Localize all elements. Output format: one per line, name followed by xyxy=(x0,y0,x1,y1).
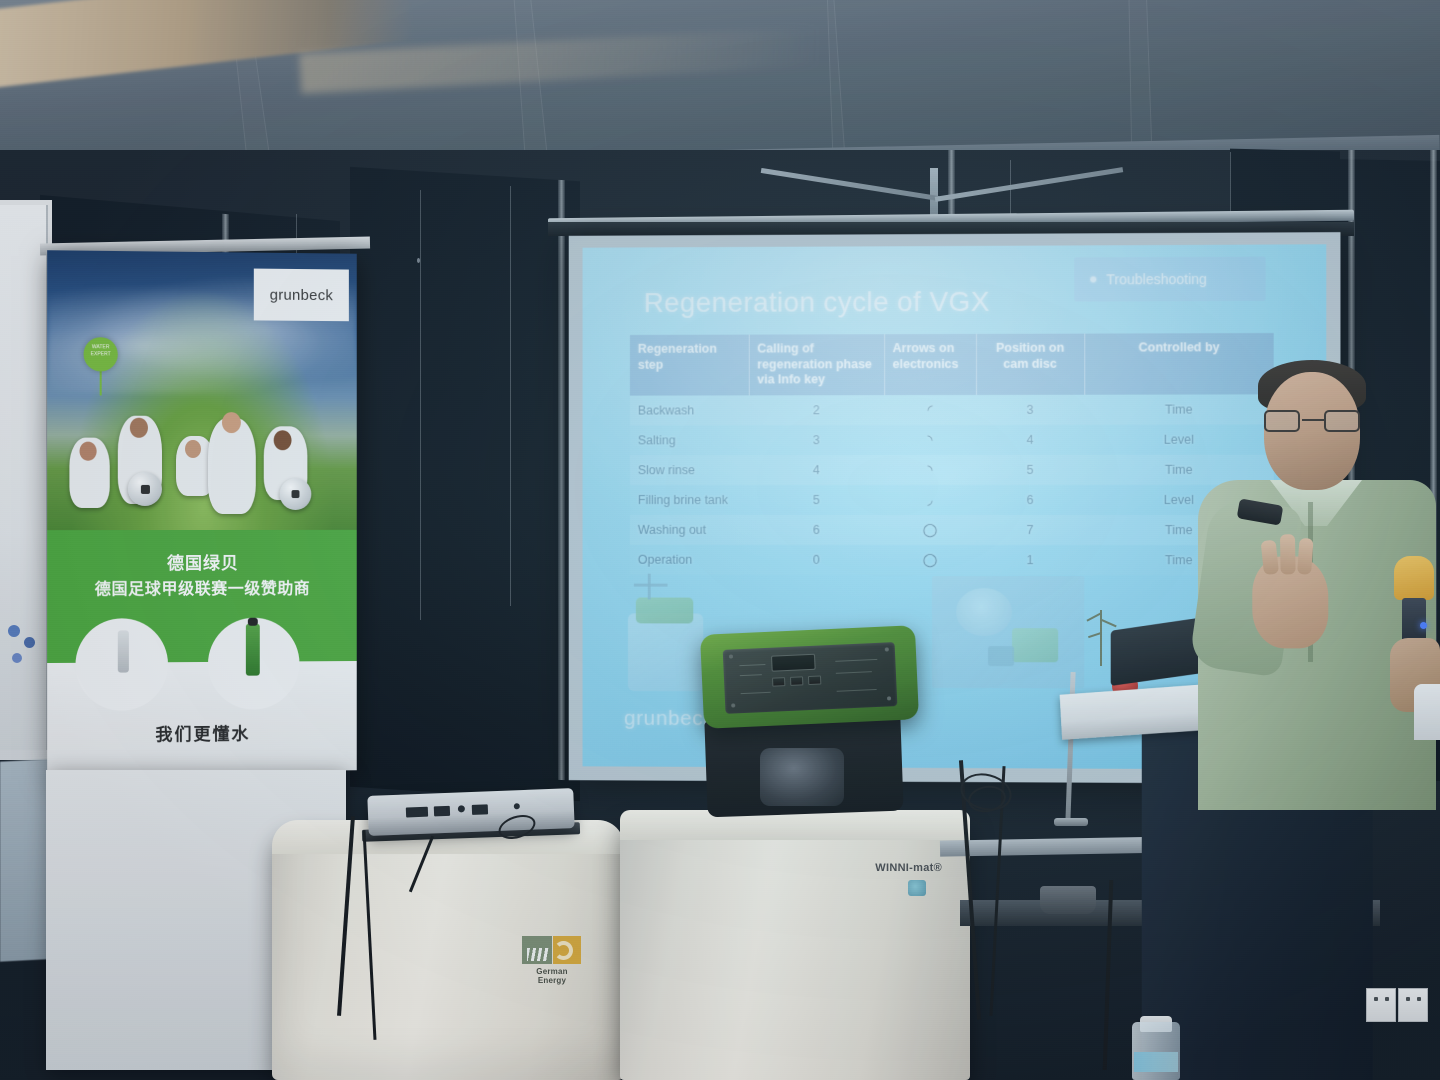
table-row: Filling brine tank 5 ◞ 6 Level xyxy=(630,485,1274,515)
control-button-1[interactable] xyxy=(772,677,785,687)
tank-logo-caption: German Energy xyxy=(522,967,582,985)
water-softener-cabinet: WINNI-mat® xyxy=(620,820,970,1080)
cell-step: Filling brine tank xyxy=(630,485,749,515)
banner-product-green-cap xyxy=(248,618,258,626)
panel-printed-text xyxy=(837,689,877,692)
col-header-step: Regeneration step xyxy=(630,335,749,396)
table-body: Backwash 2 ◜ 3 Time Salting 3 ◝ 4 Level xyxy=(630,394,1274,575)
softener-valve-assembly xyxy=(760,748,844,806)
winni-mat-logo-icon xyxy=(908,880,926,896)
blind-cord-3 xyxy=(510,186,511,606)
mic-windscreen xyxy=(1394,556,1434,600)
cell-info-key: 6 xyxy=(749,515,884,545)
cell-cam-disc: 6 xyxy=(976,485,1084,515)
window-blinds-center xyxy=(350,167,580,801)
banner-soccer-ball xyxy=(280,478,312,510)
podium-mic-base xyxy=(1054,818,1088,826)
projector-port xyxy=(458,805,465,812)
blind-bead xyxy=(417,258,420,263)
table-row: Salting 3 ◝ 4 Level xyxy=(630,424,1274,455)
projector-port xyxy=(472,804,488,815)
cell-step: Slow rinse xyxy=(630,455,749,485)
banner-player-head xyxy=(130,418,148,438)
screen-mount-post xyxy=(930,168,938,218)
cell-arrow: ◝ xyxy=(884,455,976,485)
cell-step: Salting xyxy=(630,425,749,455)
presenter-finger xyxy=(1297,538,1313,575)
projector-port xyxy=(406,807,428,818)
col-header-cam-disc: Position on cam disc xyxy=(976,334,1084,395)
panel-screw xyxy=(885,647,889,651)
control-button-2[interactable] xyxy=(790,676,803,686)
panel-printed-text xyxy=(740,674,762,676)
banner-white-block xyxy=(47,661,357,774)
presenter-finger xyxy=(1280,534,1296,574)
presenter-hand xyxy=(1252,556,1328,648)
banner-headline: 德国绿贝 德国足球甲级联赛一级赞助商 xyxy=(47,552,357,601)
cell-arrow: ◯ xyxy=(884,545,976,575)
glasses-lens-right xyxy=(1324,410,1360,432)
panel-screw xyxy=(887,696,891,700)
table-row: Washing out 6 ◯ 7 Time xyxy=(630,515,1274,545)
white-sleeve xyxy=(1414,684,1440,740)
cell-info-key: 3 xyxy=(749,425,884,455)
window-mullion-2 xyxy=(558,180,565,780)
banner-soccer-ball xyxy=(128,472,162,506)
logo-sun-arc xyxy=(554,941,573,960)
control-button-3[interactable] xyxy=(808,675,821,685)
logo-bars-icon xyxy=(527,948,549,961)
projector-port xyxy=(434,806,450,817)
panel-printed-text xyxy=(741,692,771,694)
cell-arrow: ◯ xyxy=(884,515,976,545)
cell-info-key: 5 xyxy=(749,485,884,515)
presentation-room-photo: Regeneration cycle of VGX Troubleshootin… xyxy=(0,0,1440,1080)
banner-product-green xyxy=(246,624,260,676)
softener-lid xyxy=(620,810,970,840)
regeneration-cycle-table: Regeneration step Calling of regeneratio… xyxy=(630,333,1274,575)
banner-player-head xyxy=(222,412,241,433)
col-header-arrows: Arrows on electronics xyxy=(884,334,976,395)
banner-headline-line1: 德国绿贝 xyxy=(47,552,357,577)
cell-cam-disc: 4 xyxy=(976,425,1084,455)
banner-brand-logo-box: grunbeck xyxy=(254,269,349,322)
german-energy-logo-tank: German Energy xyxy=(522,936,606,994)
planter-pot xyxy=(1040,886,1096,914)
projector-port xyxy=(514,803,520,809)
table-row: Backwash 2 ◜ 3 Time xyxy=(630,394,1274,425)
cell-cam-disc: 7 xyxy=(976,515,1084,545)
banner-slogan: 我们更懂水 xyxy=(47,719,357,747)
cell-cam-disc: 5 xyxy=(976,455,1084,485)
panel-screw xyxy=(729,654,733,658)
table-header-row: Regeneration step Calling of regeneratio… xyxy=(630,333,1274,395)
cell-info-key: 4 xyxy=(749,455,884,485)
cell-arrow: ◜ xyxy=(884,395,976,425)
brine-tank: German Energy xyxy=(272,828,624,1080)
projector xyxy=(367,788,574,836)
mic-status-led xyxy=(1420,622,1427,629)
cell-cam-disc: 3 xyxy=(976,395,1084,425)
glasses-bridge xyxy=(1302,419,1324,421)
cell-info-key: 0 xyxy=(749,545,884,575)
panel-printed-text xyxy=(835,659,877,662)
cell-arrow: ◝ xyxy=(884,425,976,455)
bullet-icon xyxy=(1090,276,1096,282)
handheld-microphone xyxy=(1386,556,1438,736)
slide-section-tab: Troubleshooting xyxy=(1074,257,1265,302)
panel-printed-text xyxy=(739,664,765,666)
presenter-finger xyxy=(1261,540,1279,575)
wall-socket[interactable] xyxy=(1398,988,1428,1022)
banner-player-head xyxy=(274,430,292,450)
banner-brand-logo: grunbeck xyxy=(270,286,333,304)
cell-info-key: 2 xyxy=(749,395,884,425)
banner-photo: grunbeck WATER EXPERT xyxy=(47,250,357,530)
cell-step: Washing out xyxy=(630,515,749,545)
slide-section-label: Troubleshooting xyxy=(1106,271,1207,287)
slide-title: Regeneration cycle of VGX xyxy=(644,286,990,319)
softener-control-head xyxy=(700,625,919,729)
banner-badge-stick xyxy=(100,369,102,395)
control-panel xyxy=(723,642,898,714)
winni-mat-label: WINNI-mat® xyxy=(875,862,942,874)
col-header-info-key: Calling of regeneration phase via Info k… xyxy=(749,334,884,395)
banner-player-head xyxy=(80,442,97,461)
cell-cam-disc: 1 xyxy=(976,545,1084,575)
banner-player-head xyxy=(185,440,201,458)
cell-step: Backwash xyxy=(630,395,749,425)
cell-arrow: ◞ xyxy=(884,485,976,515)
banner-water-expert-badge: WATER EXPERT xyxy=(84,337,118,371)
table-row: Slow rinse 4 ◝ 5 Time xyxy=(630,455,1274,485)
blind-cord-2 xyxy=(420,190,421,620)
panel-printed-text xyxy=(836,671,872,674)
glasses-lens-left xyxy=(1264,410,1300,432)
banner-headline-line2: 德国足球甲级联赛一级赞助商 xyxy=(47,576,357,600)
lcd-display[interactable] xyxy=(771,654,816,672)
slide-photo-cam-disc xyxy=(932,576,1084,688)
rollup-banner: grunbeck WATER EXPERT 德国绿贝 德国足球甲级联赛一级赞助商 xyxy=(47,250,357,774)
slide-brand-logo: grunbeck xyxy=(624,707,714,731)
presenter-glasses xyxy=(1264,410,1362,432)
banner-product-grey xyxy=(118,630,129,672)
whiteboard xyxy=(0,205,48,750)
wall-socket[interactable] xyxy=(1366,988,1396,1022)
panel-screw xyxy=(731,703,735,707)
bottle-label xyxy=(1134,1052,1178,1072)
